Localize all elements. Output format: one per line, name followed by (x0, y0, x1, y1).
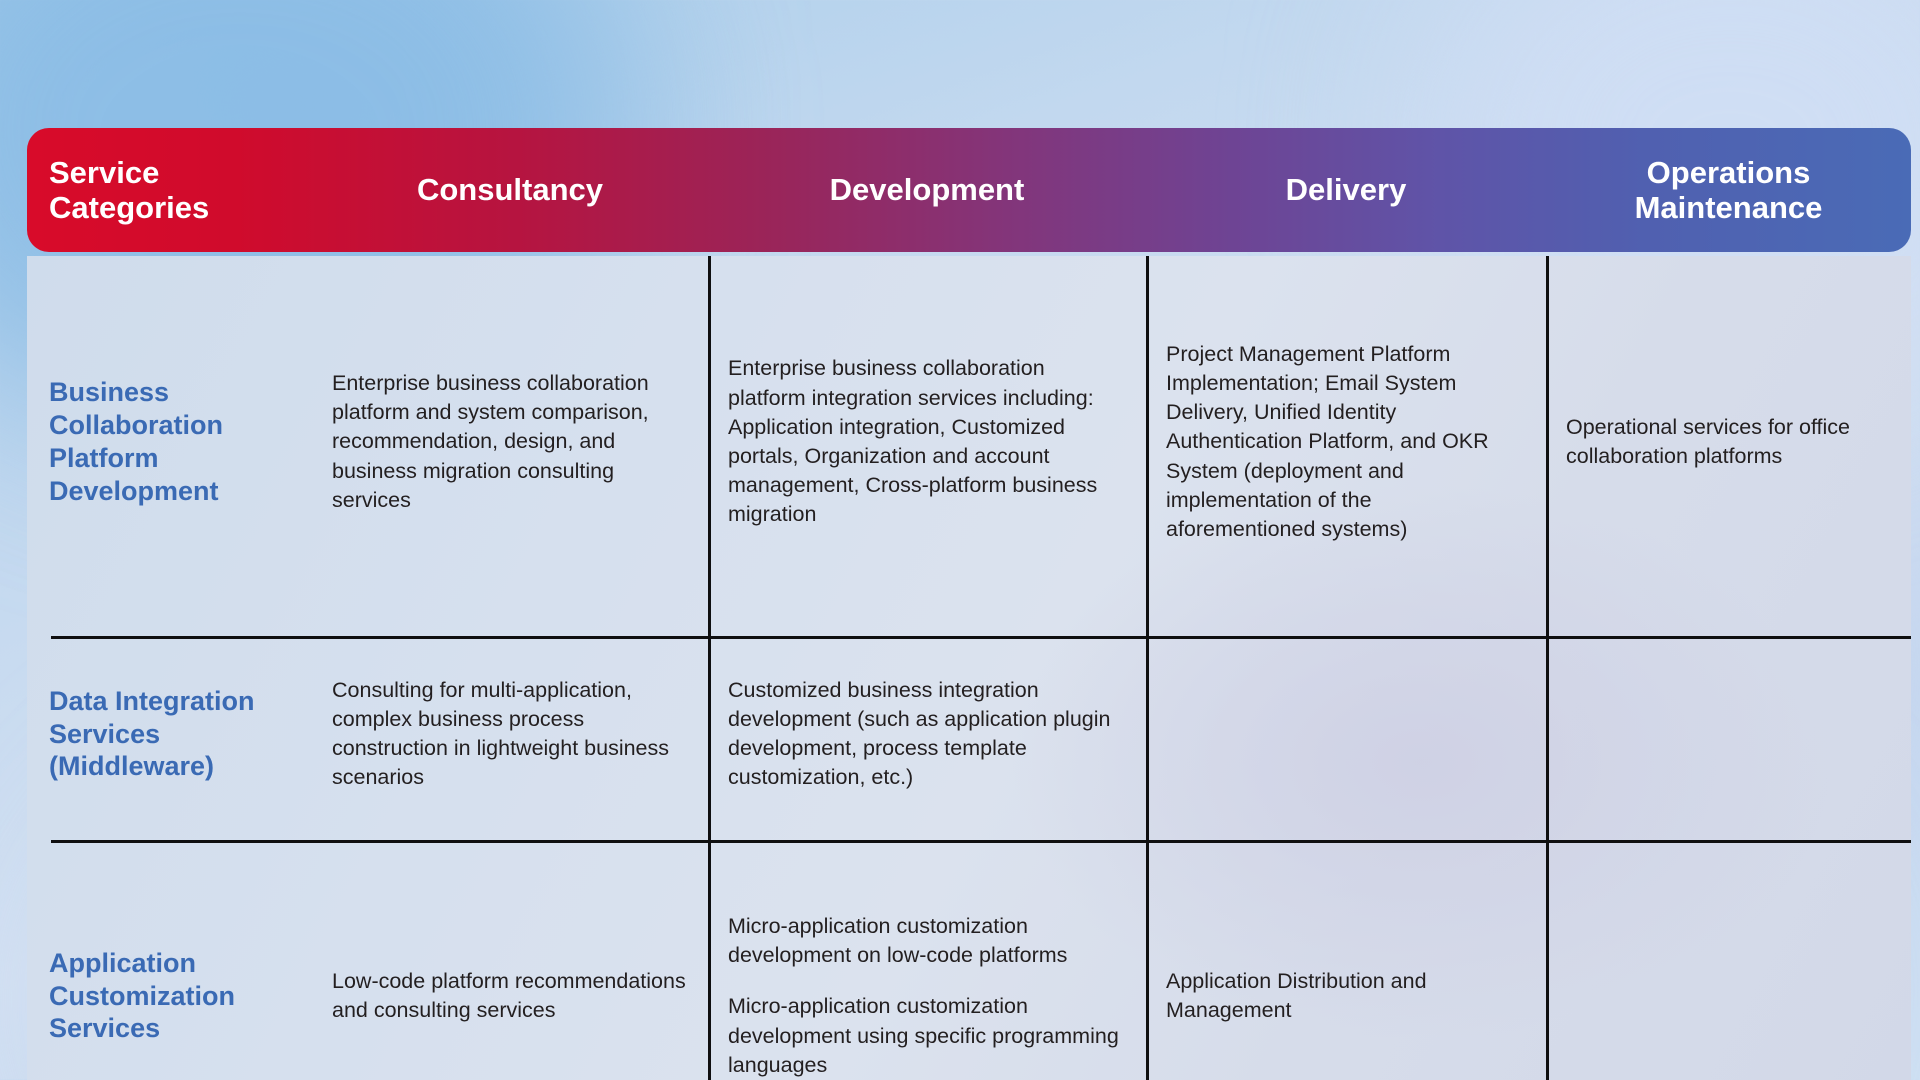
row-1-category-cell: Business Collaboration Platform Developm… (27, 252, 312, 632)
row-2-category-cell: Data Integration Services (Middleware) (27, 632, 312, 836)
column-header-delivery[interactable]: Delivery (1146, 128, 1546, 252)
row-2-operations-cell (1546, 632, 1911, 836)
row-3-category-cell: Application Customization Services (27, 836, 312, 1080)
column-header-delivery-label: Delivery (1156, 172, 1536, 207)
row-3-delivery-cell: Application Distribution and Management (1146, 836, 1546, 1080)
row-2-development-text-1: Customized business integration developm… (728, 676, 1124, 793)
row-2-development-cell: Customized business integration developm… (708, 632, 1146, 836)
column-header-operations-line2: Maintenance (1556, 190, 1901, 225)
row-2-consultancy-cell: Consulting for multi-application, comple… (312, 632, 708, 836)
row-1-consultancy-text: Enterprise business collaboration platfo… (332, 369, 686, 515)
row-3-consultancy-text: Low-code platform recommendations and co… (332, 967, 686, 1025)
row-3-development-cell: Micro-application customization developm… (708, 836, 1146, 1080)
row-3-category-label: Application Customization Services (49, 947, 304, 1046)
row-1-operations-text: Operational services for office collabor… (1566, 413, 1889, 471)
service-matrix-table: Service Categories Consultancy Developme… (27, 128, 1911, 1080)
service-matrix-table-wrapper: Service Categories Consultancy Developme… (27, 128, 1911, 1080)
table-header-row: Service Categories Consultancy Developme… (27, 128, 1911, 252)
row-divider-1 (51, 636, 1911, 639)
row-3-consultancy-cell: Low-code platform recommendations and co… (312, 836, 708, 1080)
row-2-delivery-cell (1146, 632, 1546, 836)
column-header-service-categories-line2: Categories (49, 190, 302, 225)
column-divider-1 (708, 256, 711, 1080)
row-divider-2 (51, 840, 1911, 843)
column-header-service-categories-line1: Service (49, 155, 302, 190)
row-3-development-text-1: Micro-application customization developm… (728, 912, 1124, 970)
column-header-service-categories[interactable]: Service Categories (27, 128, 312, 252)
row-3-operations-cell (1546, 836, 1911, 1080)
column-header-operations-maintenance[interactable]: Operations Maintenance (1546, 128, 1911, 252)
table-row[interactable]: Application Customization Services Low-c… (27, 836, 1911, 1080)
row-1-consultancy-cell: Enterprise business collaboration platfo… (312, 252, 708, 632)
table-header-row-group: Service Categories Consultancy Developme… (27, 128, 1911, 252)
row-1-development-text-1: Enterprise business collaboration platfo… (728, 354, 1124, 529)
row-2-consultancy-text: Consulting for multi-application, comple… (332, 676, 686, 793)
column-header-operations-line1: Operations (1556, 155, 1901, 190)
table-row[interactable]: Data Integration Services (Middleware) C… (27, 632, 1911, 836)
row-3-development-text-2: Micro-application customization developm… (728, 992, 1124, 1080)
row-1-delivery-cell: Project Management Platform Implementati… (1146, 252, 1546, 632)
row-1-development-cell: Enterprise business collaboration platfo… (708, 252, 1146, 632)
row-1-category-label: Business Collaboration Platform Developm… (49, 376, 304, 508)
column-header-development-label: Development (718, 172, 1136, 207)
row-2-category-label: Data Integration Services (Middleware) (49, 685, 304, 784)
row-1-delivery-text: Project Management Platform Implementati… (1166, 340, 1524, 545)
column-divider-3 (1546, 256, 1549, 1080)
table-row[interactable]: Business Collaboration Platform Developm… (27, 252, 1911, 632)
table-body: Business Collaboration Platform Developm… (27, 252, 1911, 1080)
column-divider-2 (1146, 256, 1149, 1080)
column-header-consultancy[interactable]: Consultancy (312, 128, 708, 252)
column-header-consultancy-label: Consultancy (322, 172, 698, 207)
column-header-development[interactable]: Development (708, 128, 1146, 252)
row-3-delivery-text: Application Distribution and Management (1166, 967, 1524, 1025)
row-1-operations-cell: Operational services for office collabor… (1546, 252, 1911, 632)
